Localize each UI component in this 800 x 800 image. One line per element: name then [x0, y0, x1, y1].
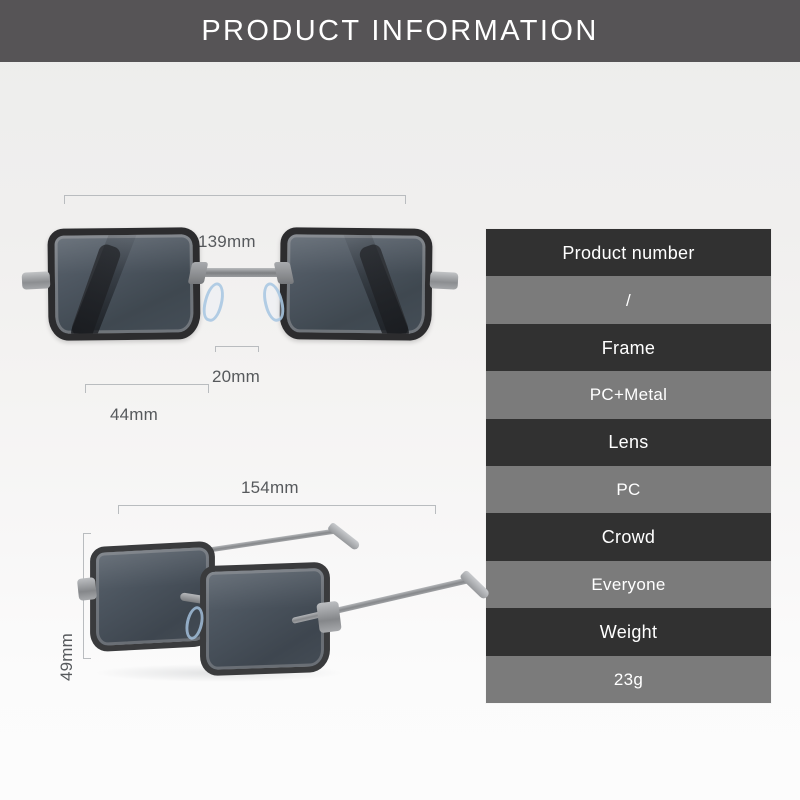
hinge-right — [430, 271, 459, 289]
sunglasses-front-view — [40, 222, 440, 352]
spec-label-text: Crowd — [602, 528, 656, 546]
spec-label-text: Weight — [600, 623, 658, 641]
dimension-label-bridge-width: 20mm — [212, 367, 260, 387]
spec-label-product-number: Product number — [486, 229, 771, 276]
product-photo-column: 139mm 20mm 44mm 154mm — [0, 62, 480, 800]
product-information-page: PRODUCT INFORMATION 139mm 20mm — [0, 0, 800, 800]
spec-label-text: Product number — [562, 244, 694, 262]
dimension-bracket-bridge-width — [215, 346, 259, 352]
spec-value-crowd: Everyone — [486, 561, 771, 608]
dimension-bracket-temple-length — [118, 505, 436, 514]
bridge-arm-left — [188, 262, 209, 284]
spec-value-text: PC — [616, 481, 640, 498]
spec-label-crowd: Crowd — [486, 513, 771, 560]
hinge-left — [22, 271, 51, 289]
spec-value-frame: PC+Metal — [486, 371, 771, 418]
lens-gloss-near — [206, 568, 324, 611]
sunglasses-angled-view — [60, 522, 460, 702]
dimension-bracket-lens-width — [85, 384, 209, 393]
page-title: PRODUCT INFORMATION — [201, 17, 598, 46]
spec-value-text: / — [626, 292, 631, 309]
spec-label-text: Frame — [602, 339, 656, 357]
dimension-bracket-total-width — [64, 195, 406, 204]
spec-value-text: 23g — [614, 671, 643, 688]
spec-value-weight: 23g — [486, 656, 771, 703]
specification-table: Product number / Frame PC+Metal Lens PC … — [486, 229, 771, 703]
spec-value-lens: PC — [486, 466, 771, 513]
lens-gloss-left — [54, 234, 192, 275]
spec-label-frame: Frame — [486, 324, 771, 371]
lens-left — [47, 227, 200, 341]
spec-label-text: Lens — [608, 433, 648, 451]
spec-value-text: Everyone — [591, 576, 665, 593]
dimension-label-lens-width: 44mm — [110, 405, 158, 425]
frame-bridge — [200, 268, 282, 277]
header-bar: PRODUCT INFORMATION — [0, 0, 800, 62]
hinge-far — [77, 577, 97, 601]
lens-right — [279, 227, 432, 341]
temple-tip-far — [327, 522, 361, 551]
lens-gloss-right — [287, 234, 425, 275]
spec-label-weight: Weight — [486, 608, 771, 655]
nose-pad-left — [199, 280, 227, 323]
dimension-label-temple-length: 154mm — [241, 478, 299, 498]
spec-value-product-number: / — [486, 276, 771, 323]
hinge-near — [316, 601, 341, 633]
lens-gloss-far — [96, 547, 209, 590]
spec-label-lens: Lens — [486, 419, 771, 466]
spec-value-text: PC+Metal — [590, 386, 668, 403]
